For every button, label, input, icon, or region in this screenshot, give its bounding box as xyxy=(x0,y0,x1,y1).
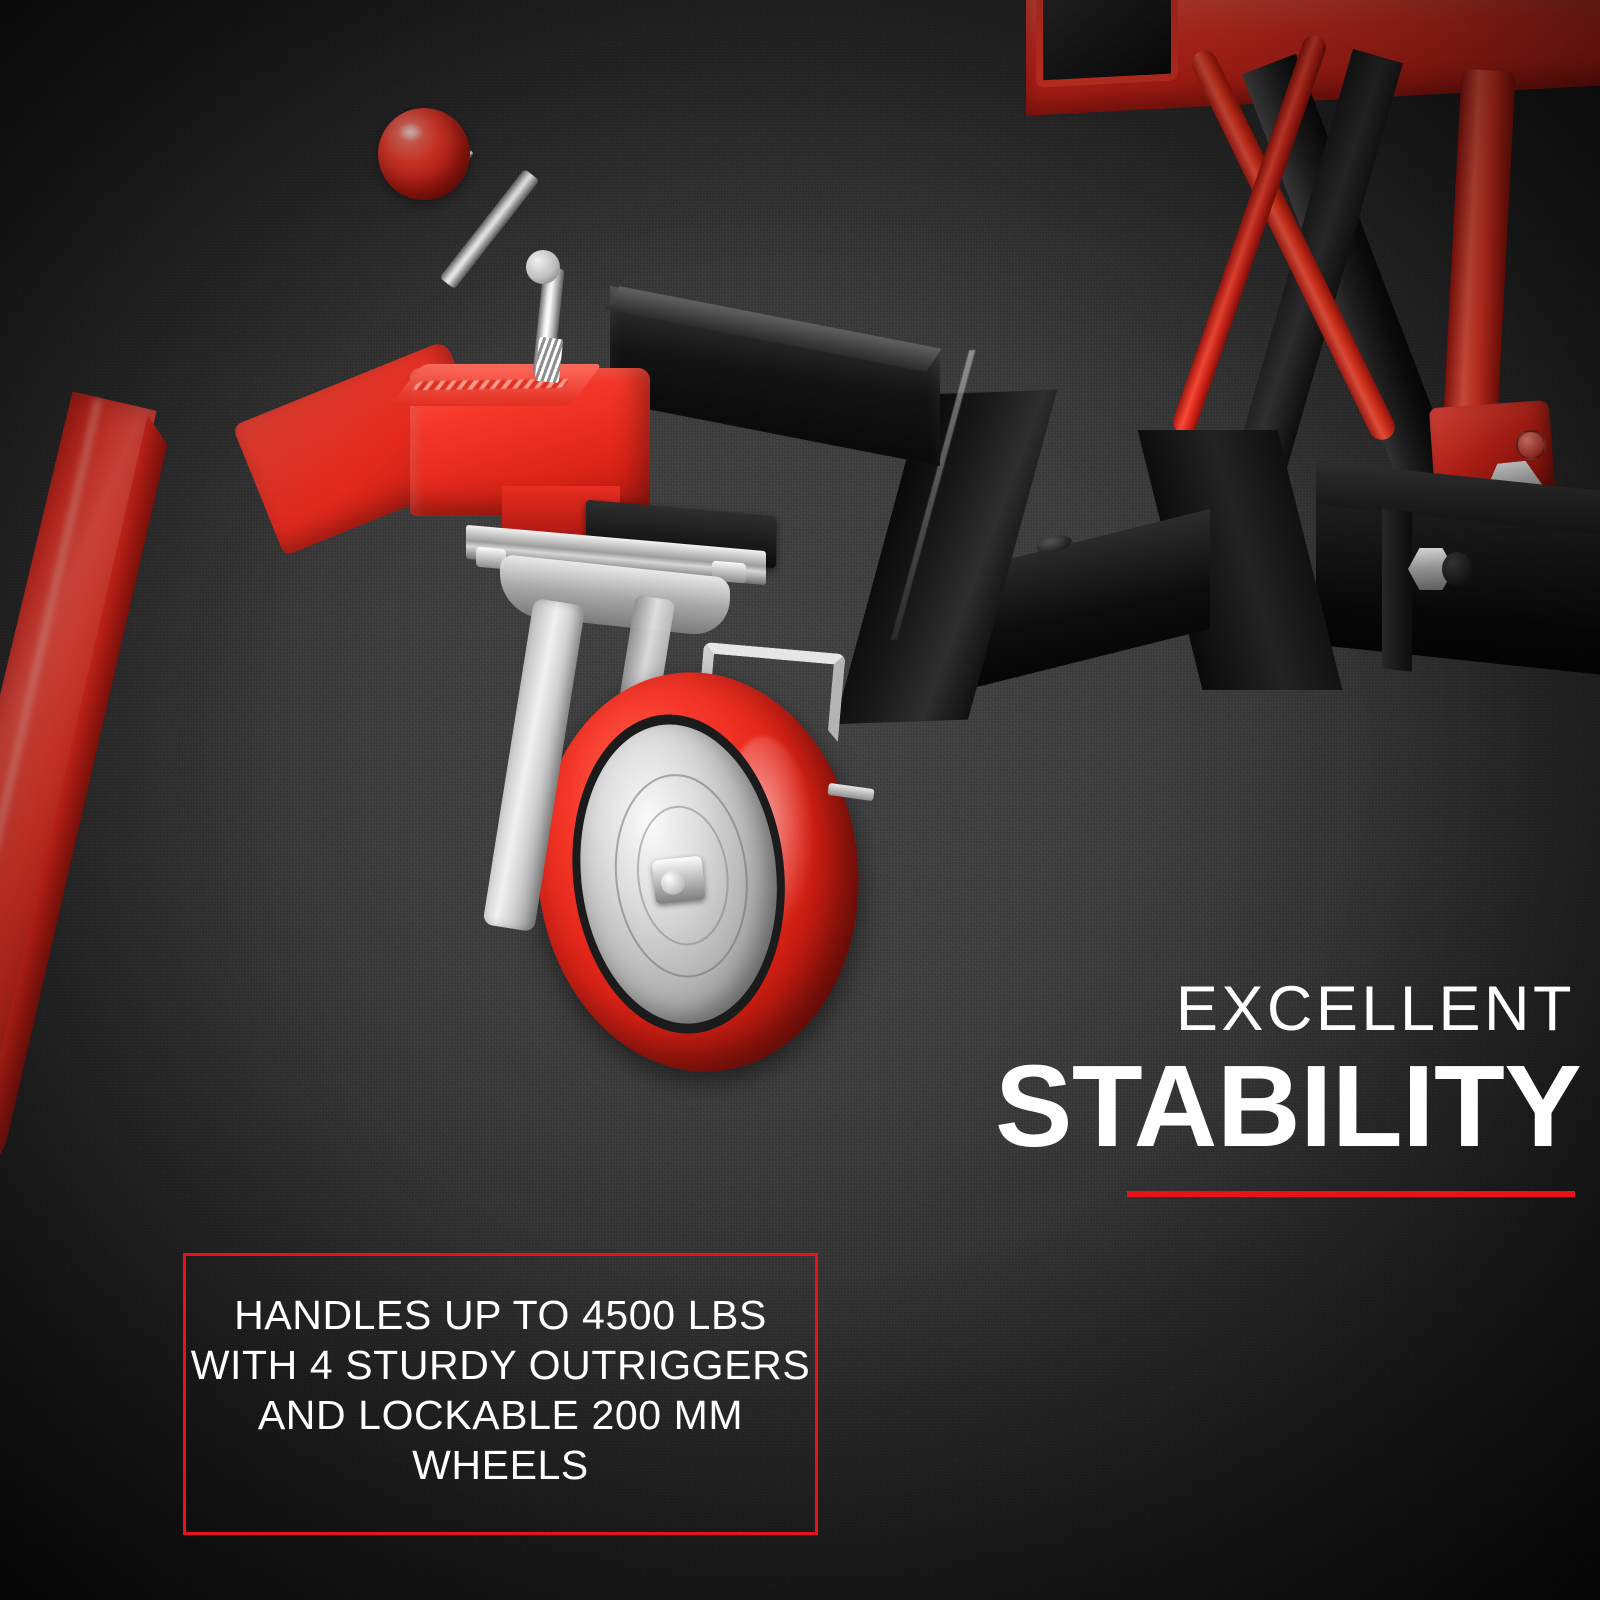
headline-accent-rule xyxy=(1127,1191,1575,1197)
base-gusset-plate xyxy=(1382,508,1412,671)
hydraulic-cylinder xyxy=(1442,69,1515,441)
headline-line-1: EXCELLENT xyxy=(995,975,1575,1043)
base-frame xyxy=(1316,505,1600,675)
outrigger-leg xyxy=(0,384,178,1224)
lever-bend xyxy=(526,250,560,284)
base-nut-icon xyxy=(1442,552,1472,586)
feature-caption-box: HANDLES UP TO 4500 LBS WITH 4 STURDY OUT… xyxy=(183,1253,818,1535)
product-banner: EXCELLENT STABILITY HANDLES UP TO 4500 L… xyxy=(0,0,1600,1600)
knuckle-bolt-icon xyxy=(1516,430,1546,460)
caster-wheel xyxy=(518,656,878,1087)
feature-caption-text: HANDLES UP TO 4500 LBS WITH 4 STURDY OUT… xyxy=(191,1290,811,1490)
locking-lever xyxy=(360,100,620,400)
platform-tube-end xyxy=(1036,0,1178,88)
lever-thread-lower xyxy=(535,337,563,383)
headline-line-2: STABILITY xyxy=(995,1047,1575,1165)
lever-knob-highlight xyxy=(398,122,424,142)
headline: EXCELLENT STABILITY xyxy=(995,975,1575,1197)
lever-ball-knob xyxy=(378,108,470,200)
